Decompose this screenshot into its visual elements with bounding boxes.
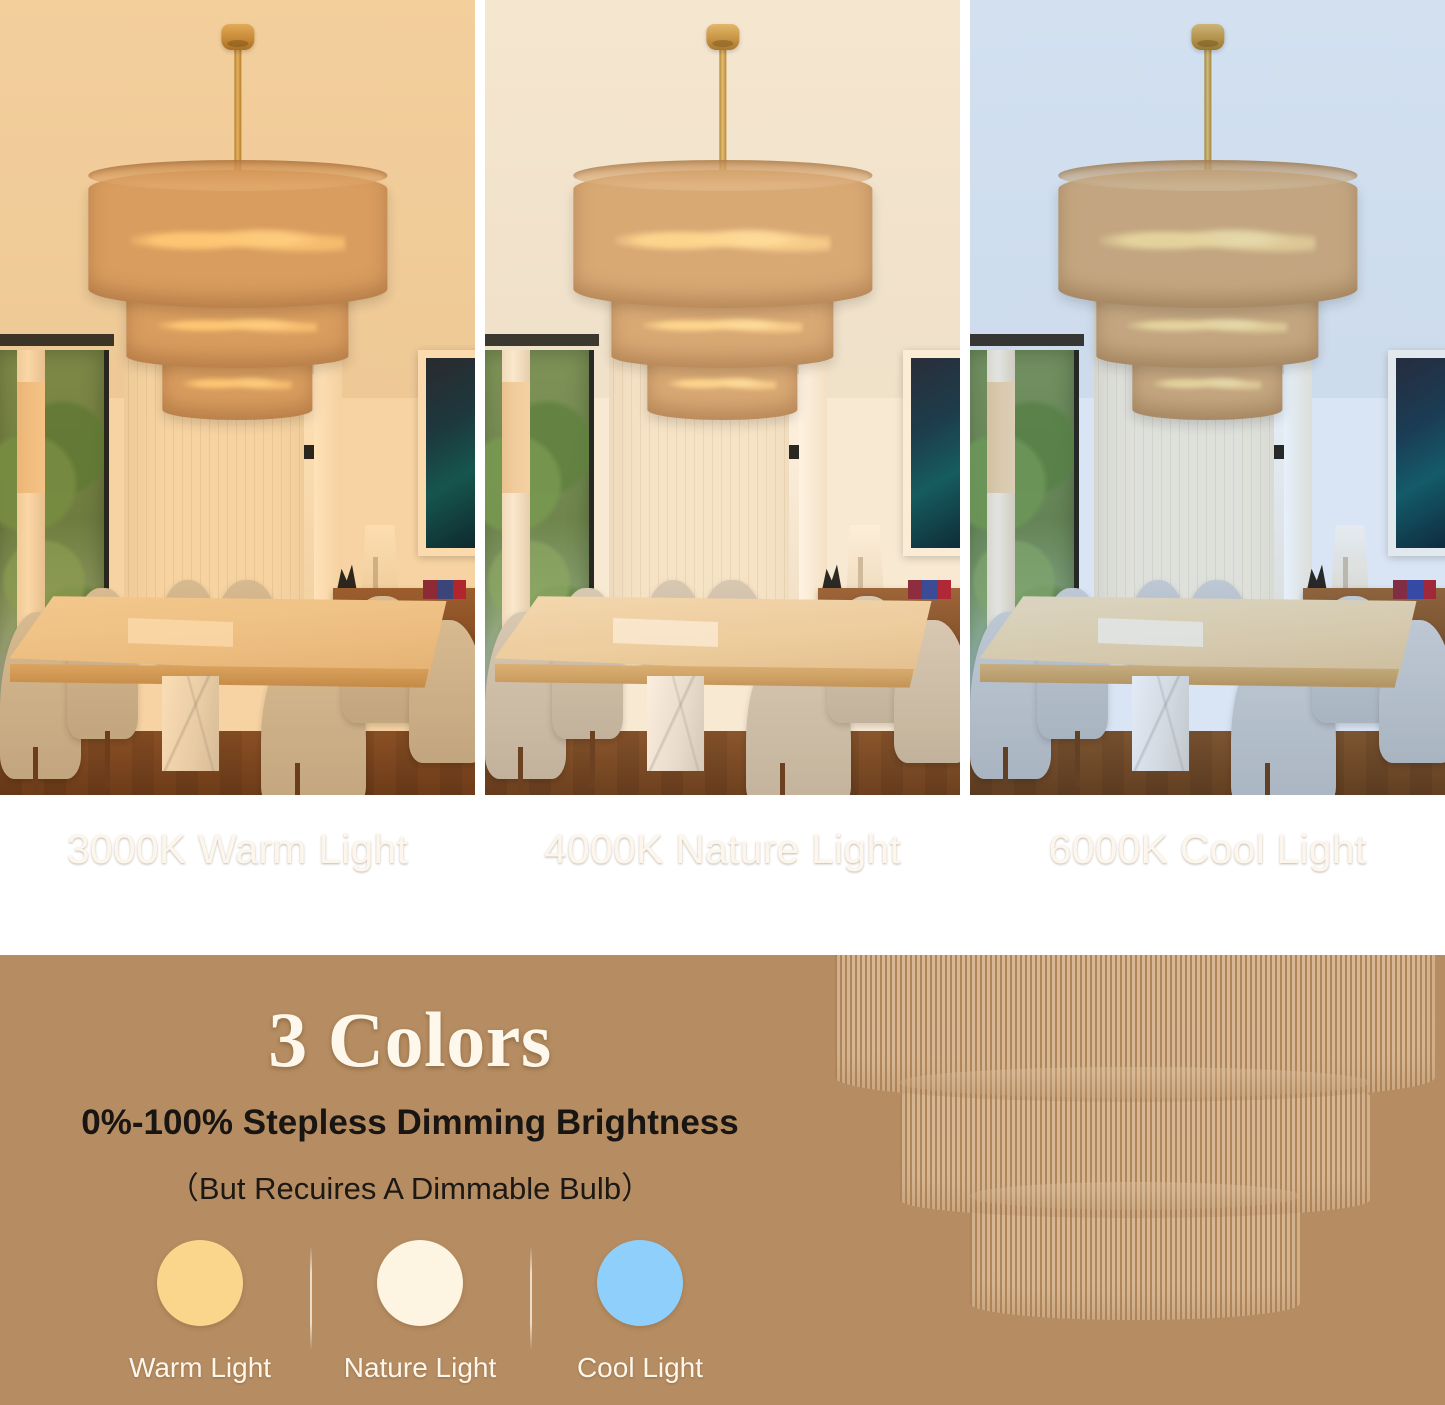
chandelier [1058,24,1357,420]
warm-light-dot [157,1240,243,1326]
nature-light-label: Nature Light [344,1352,497,1384]
wall-artwork [418,350,475,557]
chandelier-canopy [706,24,739,50]
chair-leg [590,731,595,787]
chandelier [573,24,872,420]
marble-table-base [1132,676,1189,771]
pillar-band [17,382,46,493]
swatch-cool-light: Cool Light [530,1240,750,1384]
caption-nature-light: 4000K Nature Light [485,810,960,888]
chandelier-downrod [234,50,241,170]
feature-headline: 3 Colors [60,995,760,1085]
books-stack [423,580,466,599]
chair-leg [295,763,300,795]
table-inlay [128,618,233,647]
caption-cool-light: 6000K Cool Light [970,810,1445,888]
feature-panel: 3 Colors 0%-100% Stepless Dimming Bright… [0,955,1445,1405]
feature-subline: 0%-100% Stepless Dimming Brightness [30,1103,790,1143]
room-scene [485,0,960,795]
chandelier-downrod [1204,50,1211,170]
books-stack [908,580,951,599]
cool-light-label: Cool Light [577,1352,703,1384]
caption-warm-light: 3000K Warm Light [0,810,475,888]
nature-light-dot [377,1240,463,1326]
table-lamp-shade [1331,525,1369,597]
chandelier-downrod [719,50,726,170]
photo-panel-cool [970,0,1445,795]
swatch-nature-light: Nature Light [310,1240,530,1384]
chair-leg [518,747,523,795]
cool-light-dot [597,1240,683,1326]
color-temperature-photo-strip [0,0,1445,795]
chandelier-tiers [573,170,872,420]
table-inlay [1098,618,1203,647]
chair-leg [780,763,785,795]
table-lamp-shade [361,525,399,597]
chandelier-tiers [88,170,387,420]
chandelier-canopy [1191,24,1224,50]
chair-leg [1265,763,1270,795]
chandelier-tier-top [1058,170,1357,308]
pillar-band [987,382,1016,493]
warm-light-label: Warm Light [129,1352,271,1384]
chandelier-canopy [221,24,254,50]
pillar-band [502,382,531,493]
marble-table-base [647,676,704,771]
wall-artwork [1388,350,1445,557]
chair-leg [1075,731,1080,787]
room-scene [0,0,475,795]
chandelier [88,24,387,420]
chair-leg [33,747,38,795]
room-scene [970,0,1445,795]
feature-note: （But Recuires A Dimmable Bulb） [40,1163,780,1208]
table-lamp-shade [846,525,884,597]
photo-panel-warm [0,0,475,795]
table-inlay [613,618,718,647]
chair-leg [1003,747,1008,795]
wall-artwork [903,350,960,557]
caption-strip: 3000K Warm Light 4000K Nature Light 6000… [0,810,1445,888]
swatch-warm-light: Warm Light [90,1240,310,1384]
photo-panel-nature [485,0,960,795]
color-swatch-row: Warm Light Nature Light Cool Light [90,1240,750,1400]
chair-leg [105,731,110,787]
chandelier-tier-top [573,170,872,308]
marble-table-base [162,676,219,771]
chandelier-tiers [1058,170,1357,420]
books-stack [1393,580,1436,599]
chandelier-tier-top [88,170,387,308]
